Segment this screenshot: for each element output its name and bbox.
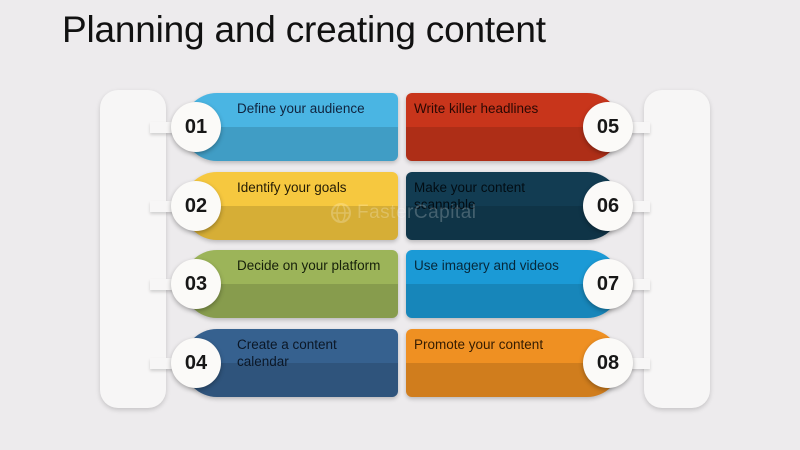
step-label: Identify your goals	[237, 179, 390, 196]
process-step-07[interactable]: Use imagery and videos07	[406, 250, 621, 318]
step-label: Create a content calendar	[237, 336, 390, 370]
process-step-08[interactable]: Promote your content08	[406, 329, 621, 397]
step-label: Write killer headlines	[414, 100, 567, 117]
process-step-02[interactable]: Identify your goals02	[183, 172, 398, 240]
process-diagram: Define your audience01Identify your goal…	[0, 0, 800, 450]
step-number-badge: 07	[583, 259, 633, 309]
process-step-06[interactable]: Make your content scannable06	[406, 172, 621, 240]
process-step-05[interactable]: Write killer headlines05	[406, 93, 621, 161]
process-step-04[interactable]: Create a content calendar04	[183, 329, 398, 397]
step-label: Make your content scannable	[414, 179, 567, 213]
step-number-badge: 01	[171, 102, 221, 152]
step-number-badge: 05	[583, 102, 633, 152]
step-number-badge: 06	[583, 181, 633, 231]
process-step-01[interactable]: Define your audience01	[183, 93, 398, 161]
step-label: Use imagery and videos	[414, 257, 567, 274]
step-number-badge: 04	[171, 338, 221, 388]
step-label: Decide on your platform	[237, 257, 390, 274]
step-number-badge: 03	[171, 259, 221, 309]
right-spine-bar	[644, 90, 710, 408]
step-label: Promote your content	[414, 336, 567, 353]
step-label: Define your audience	[237, 100, 390, 117]
process-step-03[interactable]: Decide on your platform03	[183, 250, 398, 318]
step-number-badge: 08	[583, 338, 633, 388]
step-number-badge: 02	[171, 181, 221, 231]
